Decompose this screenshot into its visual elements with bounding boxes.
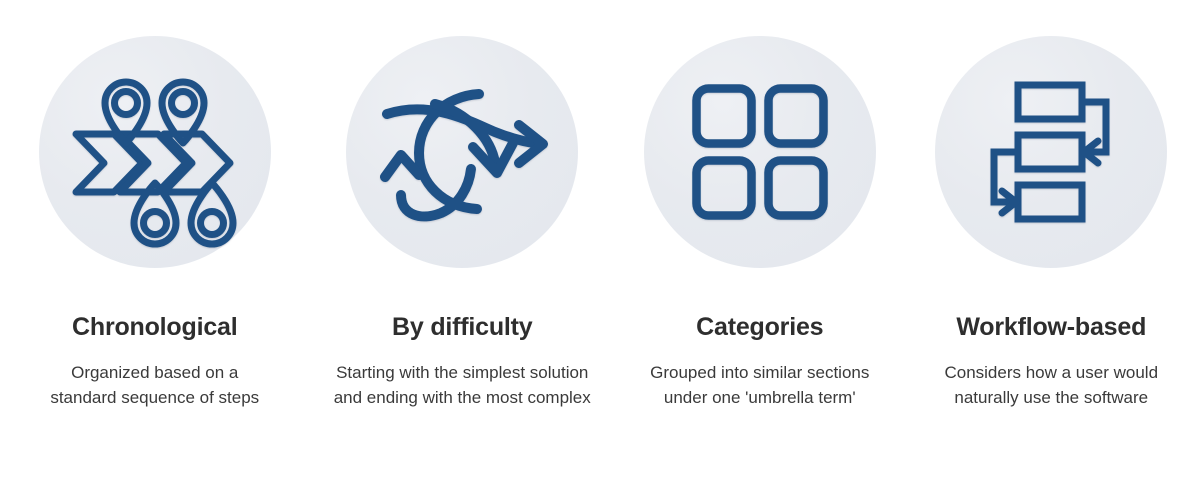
icon-circle-workflow-based bbox=[935, 36, 1167, 268]
card-description: Organized based on a standard sequence o… bbox=[40, 360, 270, 412]
card-description: Grouped into similar sections under one … bbox=[645, 360, 875, 412]
card-description: Starting with the simplest solution and … bbox=[331, 360, 593, 412]
card-title: By difficulty bbox=[392, 313, 532, 343]
icon-circle-chronological bbox=[39, 36, 271, 268]
card-title: Workflow-based bbox=[956, 313, 1146, 343]
infographic-board: Chronological Organized based on a stand… bbox=[0, 0, 1200, 500]
card-chronological[interactable]: Chronological Organized based on a stand… bbox=[6, 0, 304, 411]
tangled-arrows-icon bbox=[373, 77, 551, 227]
card-description: Considers how a user would naturally use… bbox=[925, 360, 1177, 412]
workflow-flowchart-icon bbox=[976, 81, 1126, 223]
icon-circle-by-difficulty bbox=[346, 36, 578, 268]
card-title: Categories bbox=[696, 313, 823, 343]
card-workflow-based[interactable]: Workflow-based Considers how a user woul… bbox=[903, 0, 1200, 411]
icon-circle-categories bbox=[644, 36, 876, 268]
card-title: Chronological bbox=[72, 313, 237, 343]
timeline-chevrons-with-pins-icon bbox=[70, 77, 240, 227]
card-categories[interactable]: Categories Grouped into similar sections… bbox=[611, 0, 909, 411]
grid-four-squares-icon bbox=[692, 84, 828, 220]
card-by-difficulty[interactable]: By difficulty Starting with the simplest… bbox=[314, 0, 612, 411]
